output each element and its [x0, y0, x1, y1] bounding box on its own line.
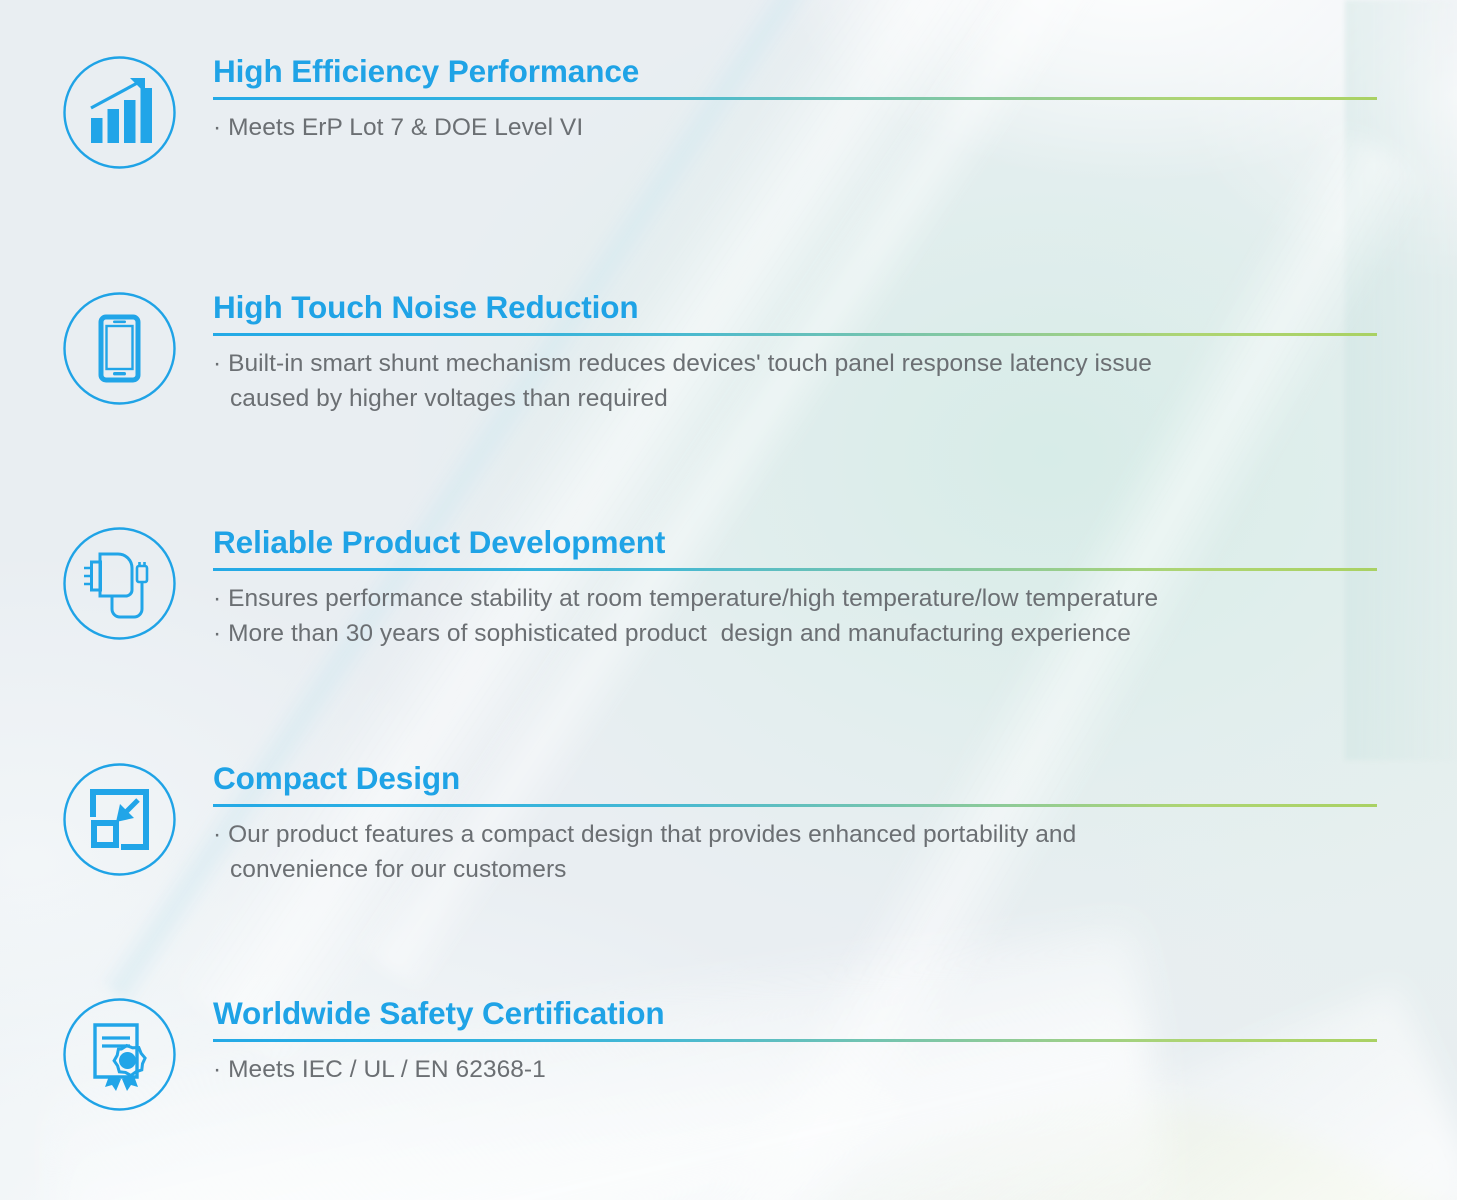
feature-description: · Meets IEC / UL / EN 62368-1 — [213, 1053, 1377, 1088]
bullet-text-continuation: convenience for our customers — [213, 853, 1377, 888]
feature-divider — [213, 804, 1377, 807]
feature-divider — [213, 333, 1377, 336]
feature-content: High Efficiency Performance · Meets ErP … — [213, 55, 1377, 146]
feature-content: Reliable Product Development · Ensures p… — [213, 526, 1377, 652]
certificate-award-icon — [62, 997, 177, 1112]
feature-description: · Ensures performance stability at room … — [213, 582, 1377, 652]
bullet-text: Ensures performance stability at room te… — [228, 585, 1158, 612]
bullet-text: Built-in smart shunt mechanism reduces d… — [228, 350, 1152, 377]
feature-bullet-line: · Ensures performance stability at room … — [213, 582, 1377, 617]
bullet-text: Meets ErP Lot 7 & DOE Level VI — [228, 114, 583, 141]
bullet-marker: · — [213, 821, 221, 848]
feature-content: Worldwide Safety Certification · Meets I… — [213, 997, 1377, 1088]
feature-bullet-line: · Meets ErP Lot 7 & DOE Level VI — [213, 111, 1377, 146]
feature-description: · Our product features a compact design … — [213, 818, 1377, 888]
bullet-text-continuation: caused by higher voltages than required — [213, 382, 1377, 417]
feature-divider — [213, 97, 1377, 100]
bullet-marker: · — [213, 620, 221, 647]
feature-title: High Efficiency Performance — [213, 55, 1377, 88]
bullet-text: Meets IEC / UL / EN 62368-1 — [228, 1056, 546, 1083]
bullet-marker: · — [213, 1056, 221, 1083]
feature-content: High Touch Noise Reduction · Built-in sm… — [213, 291, 1377, 417]
feature-divider — [213, 568, 1377, 571]
feature-title: High Touch Noise Reduction — [213, 291, 1377, 324]
bullet-marker: · — [213, 350, 221, 377]
feature-content: Compact Design · Our product features a … — [213, 762, 1377, 888]
feature-bullet-line: · Meets IEC / UL / EN 62368-1 — [213, 1053, 1377, 1088]
feature-divider — [213, 1039, 1377, 1042]
feature-highlights-page: High Efficiency Performance · Meets ErP … — [0, 0, 1457, 1200]
bullet-text: More than 30 years of sophisticated prod… — [228, 620, 1131, 647]
power-adapter-icon — [62, 526, 177, 641]
feature-title: Reliable Product Development — [213, 526, 1377, 559]
feature-title: Worldwide Safety Certification — [213, 997, 1377, 1030]
smartphone-icon — [62, 291, 177, 406]
feature-title: Compact Design — [213, 762, 1377, 795]
feature-bullet-line: · Our product features a compact design … — [213, 818, 1377, 888]
feature-description: · Meets ErP Lot 7 & DOE Level VI — [213, 111, 1377, 146]
feature-bullet-line: · Built-in smart shunt mechanism reduces… — [213, 347, 1377, 417]
bullet-text: Our product features a compact design th… — [228, 821, 1076, 848]
feature-bullet-line: · More than 30 years of sophisticated pr… — [213, 617, 1377, 652]
growth-bar-chart-icon — [62, 55, 177, 170]
compact-resize-icon — [62, 762, 177, 877]
feature-description: · Built-in smart shunt mechanism reduces… — [213, 347, 1377, 417]
bullet-marker: · — [213, 585, 221, 612]
bullet-marker: · — [213, 114, 221, 141]
